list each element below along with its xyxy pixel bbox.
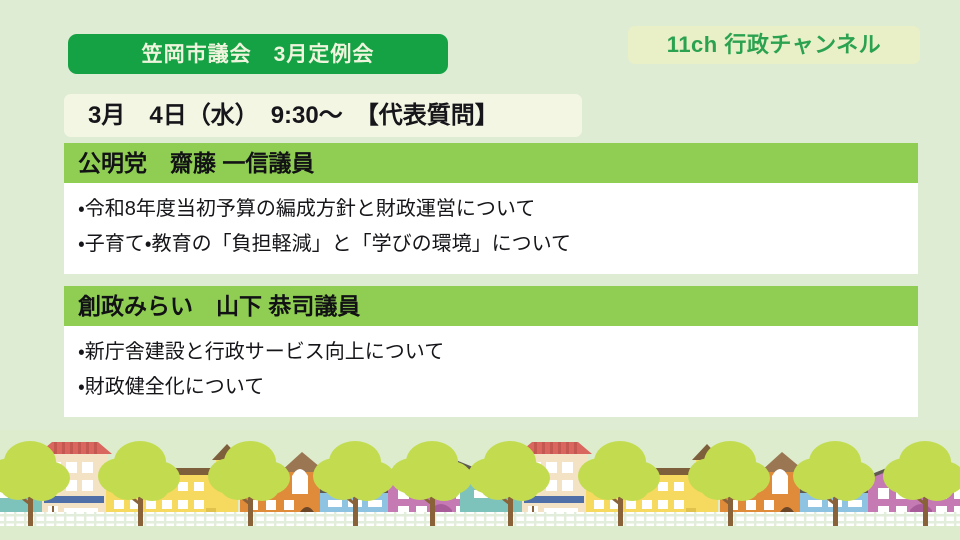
session-date-bar: 3月 4日（水） 9:30～ 【代表質問】 bbox=[64, 94, 582, 137]
meeting-title-label: 笠岡市議会 3月定例会 bbox=[142, 44, 375, 65]
topic-item: ・財政健全化について bbox=[78, 370, 918, 405]
speaker-name-label: 創政みらい 山下 恭司議員 bbox=[78, 295, 360, 318]
speaker-header: 創政みらい 山下 恭司議員 bbox=[64, 286, 918, 326]
topic-item: ・新庁舎建設と行政サービス向上について bbox=[78, 335, 918, 370]
speaker-name-label: 公明党 齋藤 一信議員 bbox=[78, 152, 314, 175]
meeting-title-badge: 笠岡市議会 3月定例会 bbox=[68, 34, 448, 74]
channel-badge: 11ch 行政チャンネル bbox=[628, 26, 920, 64]
speaker-section: 公明党 齋藤 一信議員 ・令和8年度当初予算の編成方針と財政運営について ・子育… bbox=[64, 143, 918, 274]
speaker-header: 公明党 齋藤 一信議員 bbox=[64, 143, 918, 183]
speaker-section: 創政みらい 山下 恭司議員 ・新庁舎建設と行政サービス向上について ・財政健全化… bbox=[64, 286, 918, 417]
topic-list: ・新庁舎建設と行政サービス向上について ・財政健全化について bbox=[64, 326, 918, 417]
session-date-label: 3月 4日（水） 9:30～ 【代表質問】 bbox=[88, 104, 499, 128]
topic-list: ・令和8年度当初予算の編成方針と財政運営について ・子育て・教育の「負担軽減」と… bbox=[64, 183, 918, 274]
slide-canvas: 笠岡市議会 3月定例会 11ch 行政チャンネル 3月 4日（水） 9:30～ … bbox=[0, 0, 960, 540]
townscape-illustration bbox=[0, 430, 960, 540]
picket-fence bbox=[0, 512, 960, 526]
topic-item: ・令和8年度当初予算の編成方針と財政運営について bbox=[78, 192, 918, 227]
channel-label: 11ch 行政チャンネル bbox=[667, 34, 881, 56]
topic-item: ・子育て・教育の「負担軽減」と「学びの環境」について bbox=[78, 227, 918, 262]
